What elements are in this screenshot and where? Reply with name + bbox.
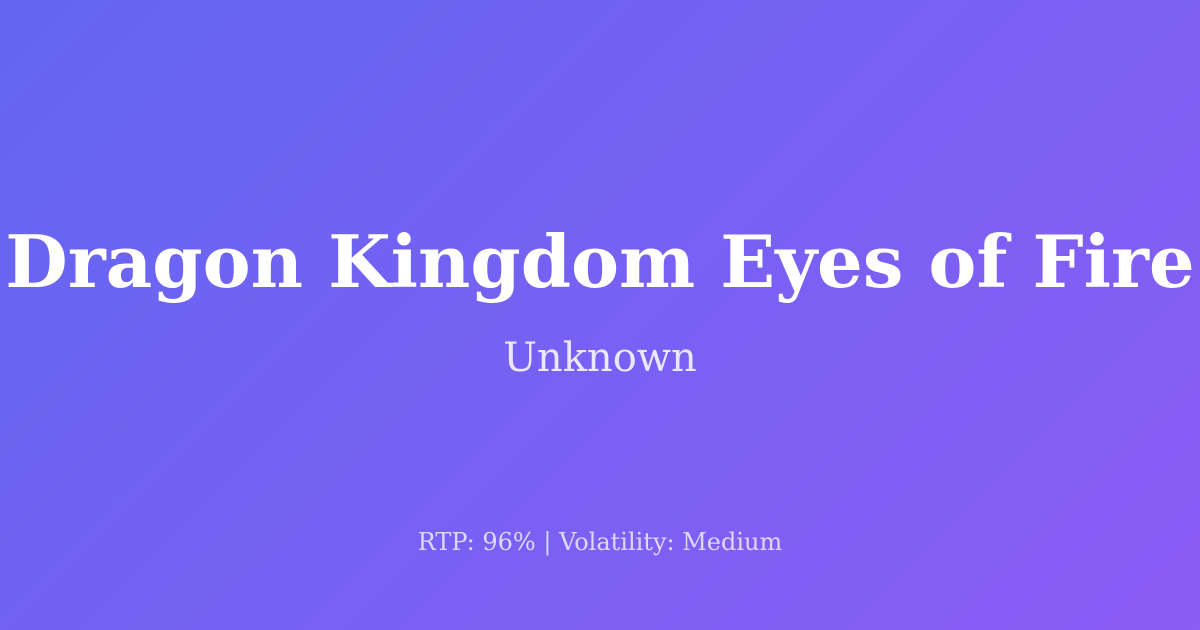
page-title: Dragon Kingdom Eyes of Fire [5, 224, 1194, 300]
game-stats-line: RTP: 96% | Volatility: Medium [0, 527, 1200, 557]
game-provider-label: Unknown [503, 334, 697, 382]
og-share-card: Dragon Kingdom Eyes of Fire Unknown RTP:… [0, 0, 1200, 630]
